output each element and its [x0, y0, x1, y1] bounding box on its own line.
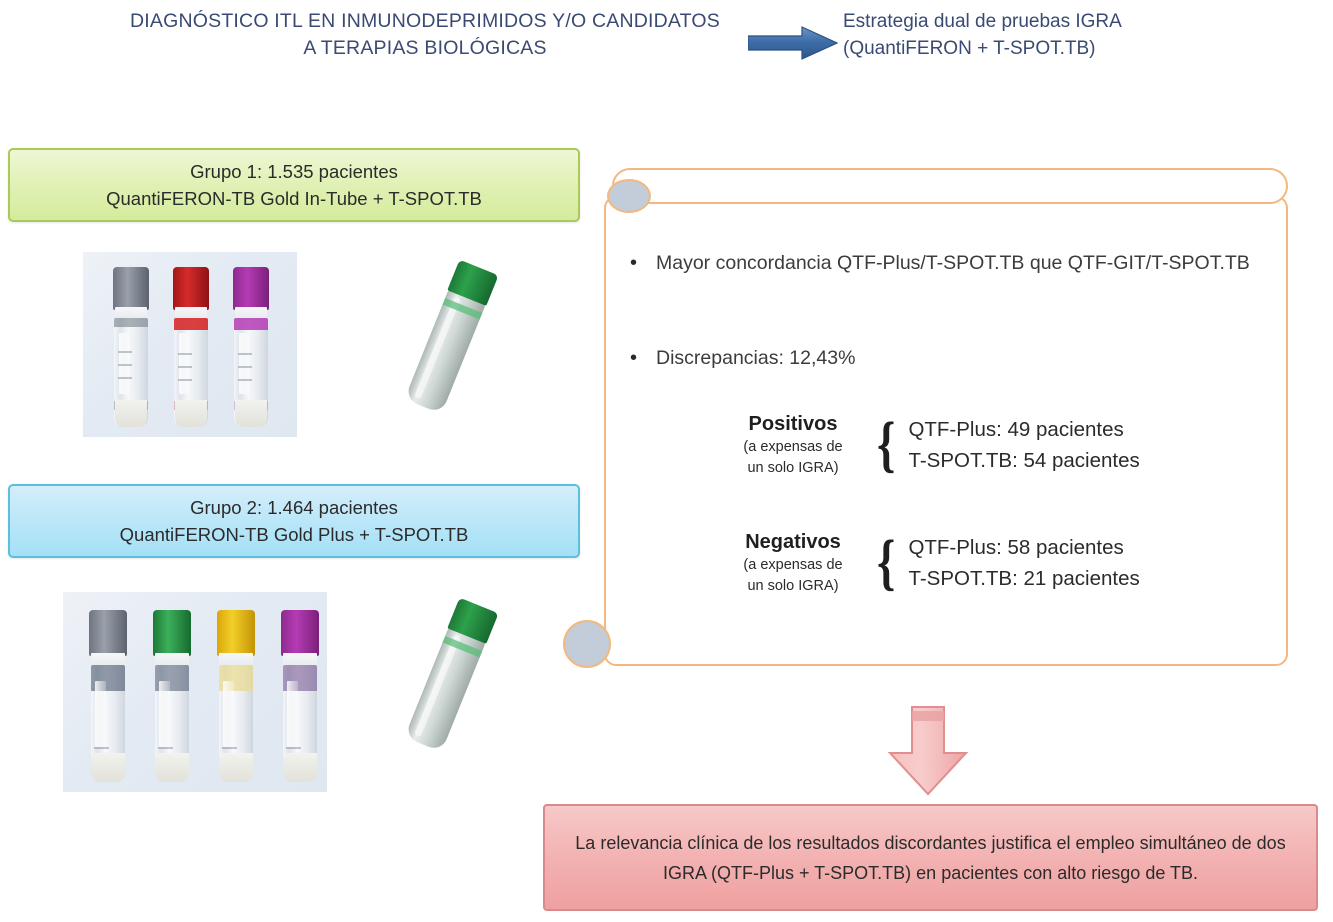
- header-subtitle: Estrategia dual de pruebas IGRA (QuantiF…: [843, 8, 1263, 62]
- stat-positivos-sub1: (a expensas de: [718, 438, 868, 457]
- brace-icon: {: [877, 535, 895, 591]
- group-1-tube-photo: [83, 252, 297, 437]
- tspot-tube-group-2: [403, 598, 498, 753]
- stat-negativos-values: QTF-Plus: 58 pacientes T-SPOT.TB: 21 pac…: [908, 532, 1139, 594]
- stat-negativos-label: Negativos (a expensas de un solo IGRA): [718, 530, 868, 596]
- stat-negativos-title: Negativos: [718, 530, 868, 554]
- result-bullet-1-text: Mayor concordancia QTF-Plus/T-SPOT.TB qu…: [656, 249, 1250, 278]
- stat-negativos-sub2: un solo IGRA): [718, 577, 868, 596]
- page-title-line1: DIAGNÓSTICO ITL EN INMUNODEPRIMIDOS Y/O …: [100, 8, 750, 35]
- result-bullet-2-text: Discrepancias: 12,43%: [656, 344, 855, 373]
- right-arrow-icon: [748, 26, 838, 60]
- page-title-line2: A TERAPIAS BIOLÓGICAS: [100, 35, 750, 62]
- group-1-line2: QuantiFERON-TB Gold In-Tube + T-SPOT.TB: [10, 185, 578, 212]
- stat-positivos-values: QTF-Plus: 49 pacientes T-SPOT.TB: 54 pac…: [908, 414, 1139, 476]
- brace-icon: {: [877, 417, 895, 473]
- tube-grey-cap: [113, 267, 149, 427]
- result-bullet-1: • Mayor concordancia QTF-Plus/T-SPOT.TB …: [630, 249, 1260, 278]
- group-1-box: Grupo 1: 1.535 pacientes QuantiFERON-TB …: [8, 148, 580, 222]
- result-bullet-2: • Discrepancias: 12,43%: [630, 344, 1260, 373]
- page-title: DIAGNÓSTICO ITL EN INMUNODEPRIMIDOS Y/O …: [100, 8, 750, 62]
- stat-block-negativos: Negativos (a expensas de un solo IGRA) {…: [718, 530, 1140, 596]
- stat-negativos-row2: T-SPOT.TB: 21 pacientes: [908, 563, 1139, 594]
- tube-green-cap: [153, 610, 191, 782]
- conclusion-text: La relevancia clínica de los resultados …: [559, 828, 1302, 888]
- tube-grey-cap: [89, 610, 127, 782]
- stat-negativos-sub1: (a expensas de: [718, 556, 868, 575]
- stat-positivos-row2: T-SPOT.TB: 54 pacientes: [908, 445, 1139, 476]
- stat-block-positivos: Positivos (a expensas de un solo IGRA) {…: [718, 412, 1140, 478]
- tube-purple-cap: [233, 267, 269, 427]
- diagram-canvas: DIAGNÓSTICO ITL EN INMUNODEPRIMIDOS Y/O …: [0, 0, 1333, 922]
- group-2-line1: Grupo 2: 1.464 pacientes: [10, 494, 578, 521]
- stat-negativos-row1: QTF-Plus: 58 pacientes: [908, 532, 1139, 563]
- stat-positivos-sub2: un solo IGRA): [718, 459, 868, 478]
- tube-purple-cap: [281, 610, 319, 782]
- group-1-line1: Grupo 1: 1.535 pacientes: [10, 158, 578, 185]
- stat-positivos-row1: QTF-Plus: 49 pacientes: [908, 414, 1139, 445]
- group-2-tube-photo: [63, 592, 327, 792]
- group-2-box: Grupo 2: 1.464 pacientes QuantiFERON-TB …: [8, 484, 580, 558]
- tube-red-cap: [173, 267, 209, 427]
- bullet-dot-icon: •: [630, 249, 656, 278]
- stat-positivos-title: Positivos: [718, 412, 868, 436]
- tube-yellow-cap: [217, 610, 255, 782]
- results-panel-titlebar: [612, 168, 1288, 204]
- bullet-dot-icon: •: [630, 344, 656, 373]
- tspot-tube-group-1: [403, 260, 498, 415]
- stat-positivos-label: Positivos (a expensas de un solo IGRA): [718, 412, 868, 478]
- header-subtitle-line2: (QuantiFERON + T-SPOT.TB): [843, 35, 1263, 62]
- down-arrow-icon: [882, 705, 974, 797]
- header-subtitle-line1: Estrategia dual de pruebas IGRA: [843, 8, 1263, 35]
- panel-corner-knob-top-left: [607, 179, 651, 213]
- panel-corner-knob-bottom-left: [563, 620, 611, 668]
- conclusion-box: La relevancia clínica de los resultados …: [543, 804, 1318, 911]
- group-2-line2: QuantiFERON-TB Gold Plus + T-SPOT.TB: [10, 521, 578, 548]
